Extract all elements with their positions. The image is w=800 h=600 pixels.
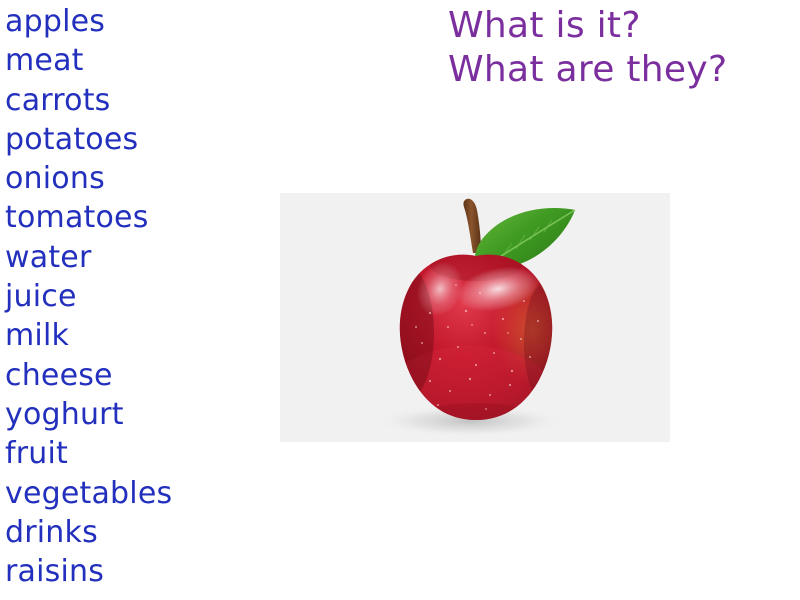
list-item: milk bbox=[5, 316, 265, 355]
list-item: onions bbox=[5, 159, 265, 198]
list-item: meat bbox=[5, 41, 265, 80]
question-line-plural: What are they? bbox=[448, 48, 793, 92]
list-item: yoghurt bbox=[5, 395, 265, 434]
list-item: cheese bbox=[5, 356, 265, 395]
apple-image bbox=[280, 193, 670, 442]
apple-illustration bbox=[280, 193, 670, 442]
list-item: apples bbox=[5, 2, 265, 41]
list-item: juice bbox=[5, 277, 265, 316]
list-item: fruit bbox=[5, 434, 265, 473]
list-item: carrots bbox=[5, 81, 265, 120]
list-item: potatoes bbox=[5, 120, 265, 159]
vocabulary-word-list: apples meat carrots potatoes onions toma… bbox=[5, 2, 265, 591]
page-title: What is it? What are they? bbox=[448, 4, 793, 92]
slide-canvas: apples meat carrots potatoes onions toma… bbox=[0, 0, 800, 600]
list-item: tomatoes bbox=[5, 198, 265, 237]
question-line-singular: What is it? bbox=[448, 4, 793, 48]
list-item: drinks bbox=[5, 513, 265, 552]
list-item: vegetables bbox=[5, 474, 265, 513]
list-item: raisins bbox=[5, 552, 265, 591]
list-item: water bbox=[5, 238, 265, 277]
